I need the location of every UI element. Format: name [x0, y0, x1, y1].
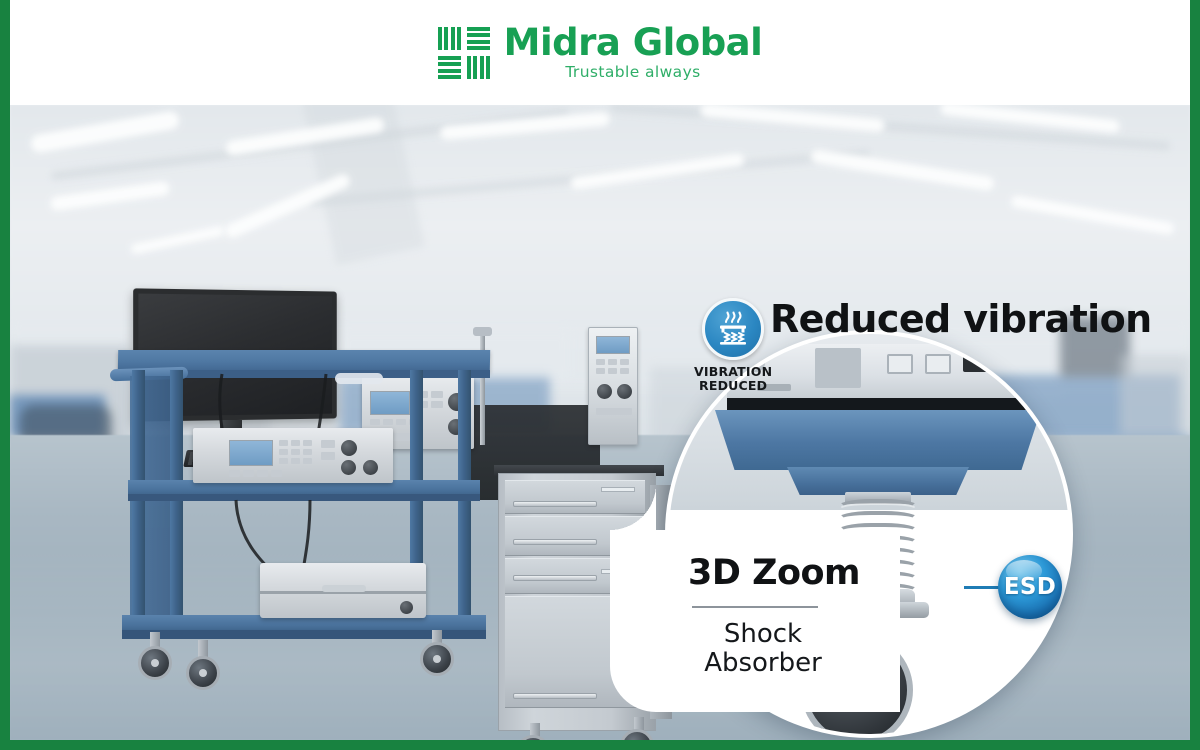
esd-badge-circle: ESD — [998, 555, 1062, 619]
esd-label: ESD — [1004, 574, 1056, 600]
vibration-reduced-icon — [702, 298, 764, 360]
cart-caster-wheel — [186, 656, 220, 690]
callout-subtitle: Shock Absorber — [688, 620, 838, 678]
lab-photo-scene: VIBRATION REDUCED Reduced vibration — [10, 105, 1190, 740]
brand-name: Midra Global — [504, 24, 763, 63]
logo-lockup[interactable]: Midra Global Trustable always — [438, 24, 763, 82]
shelf-instrument-box — [260, 563, 426, 618]
esd-leader-line — [964, 586, 1000, 589]
cart-caster-wheel — [420, 642, 454, 676]
pole-knob — [473, 327, 492, 336]
poster-content: Midra Global Trustable always — [10, 0, 1190, 740]
callout-divider — [692, 606, 818, 608]
reduced-vibration-headline: Reduced vibration — [770, 297, 1152, 341]
poster-frame: Midra Global Trustable always — [0, 0, 1200, 750]
oscilloscope-unit — [588, 327, 638, 445]
cart-caster-wheel — [138, 646, 172, 680]
vibration-badge-caption: VIBRATION REDUCED — [694, 365, 772, 392]
vibration-caption-line2: REDUCED — [694, 379, 772, 393]
callout-subtitle-line2: Absorber — [688, 649, 838, 678]
zoom-callout-panel: 3D Zoom Shock Absorber — [610, 530, 900, 712]
logo-text-block: Midra Global Trustable always — [504, 24, 763, 82]
zoom-cart-mount-block — [787, 467, 969, 495]
shelf-instrument-analyzer — [193, 428, 393, 483]
vibration-reduced-badge: VIBRATION REDUCED — [694, 298, 772, 392]
midra-pinwheel-logo-icon — [438, 27, 490, 79]
esd-badge: ESD — [998, 555, 1062, 619]
callout-title: 3D Zoom — [688, 556, 882, 591]
brand-tagline: Trustable always — [565, 63, 700, 81]
callout-subtitle-line1: Shock — [688, 620, 838, 649]
vibration-caption-line1: VIBRATION — [694, 365, 772, 379]
brand-header: Midra Global Trustable always — [10, 0, 1190, 105]
blue-instrument-trolley — [110, 350, 500, 695]
zoom-cart-base-slab — [715, 410, 1041, 470]
